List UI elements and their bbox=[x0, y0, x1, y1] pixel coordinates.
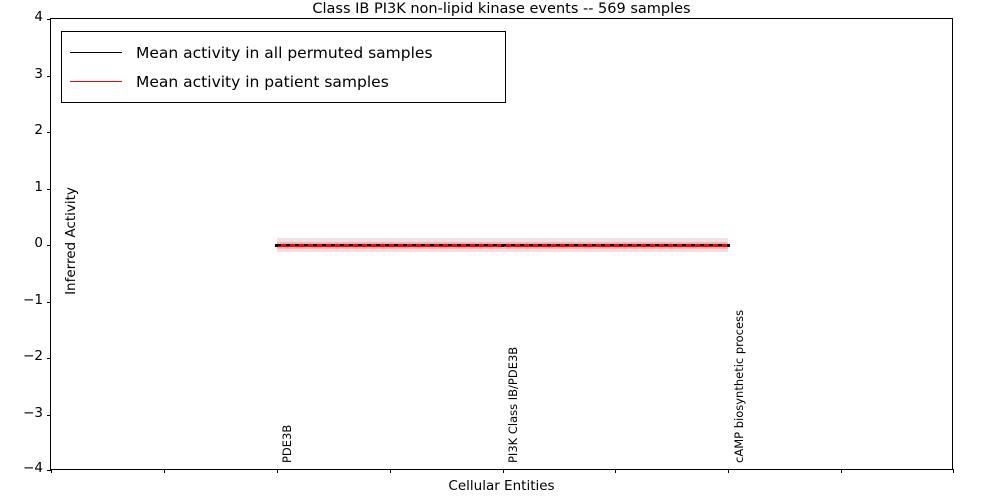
x-tick-mark bbox=[164, 469, 165, 473]
x-tick-mark bbox=[841, 469, 842, 473]
data-point-marker bbox=[727, 244, 730, 247]
x-tick-mark bbox=[51, 469, 52, 473]
x-tick-mark bbox=[277, 469, 278, 473]
plot-area: Mean activity in all permuted samples Me… bbox=[50, 18, 953, 470]
y-tick-label: 4 bbox=[3, 11, 43, 25]
x-tick-label-pi3k-class-ib-pde3b: PI3K Class IB/PDE3B bbox=[508, 347, 520, 463]
legend-item-patient: Mean activity in patient samples bbox=[70, 67, 493, 96]
figure-canvas: Class IB PI3K non-lipid kinase events --… bbox=[0, 0, 1000, 500]
page-title: Class IB PI3K non-lipid kinase events --… bbox=[50, 0, 953, 18]
y-tick-label: 3 bbox=[3, 68, 43, 82]
x-tick-mark bbox=[615, 469, 616, 473]
legend-label: Mean activity in all permuted samples bbox=[136, 44, 433, 62]
legend: Mean activity in all permuted samples Me… bbox=[61, 31, 506, 103]
data-point-marker bbox=[501, 244, 504, 247]
x-tick-mark bbox=[503, 469, 504, 473]
y-tick-label: −1 bbox=[3, 294, 43, 308]
x-axis-label: Cellular Entities bbox=[50, 478, 953, 494]
x-tick-label-camp-biosynthetic-process: cAMP biosynthetic process bbox=[734, 310, 746, 463]
x-tick-mark bbox=[953, 469, 954, 473]
y-tick-label: 0 bbox=[3, 237, 43, 251]
legend-item-permuted: Mean activity in all permuted samples bbox=[70, 38, 493, 67]
y-tick-label: 1 bbox=[3, 181, 43, 195]
x-tick-mark bbox=[728, 469, 729, 473]
x-tick-label-pde3b: PDE3B bbox=[282, 425, 294, 463]
y-tick-label: −4 bbox=[3, 462, 43, 476]
y-tick-label: −2 bbox=[3, 350, 43, 364]
y-axis-label: Inferred Activity bbox=[63, 15, 79, 467]
x-tick-mark bbox=[390, 469, 391, 473]
data-point-marker bbox=[275, 244, 278, 247]
y-tick-label: −3 bbox=[3, 407, 43, 421]
y-tick-label: 2 bbox=[3, 124, 43, 138]
legend-label: Mean activity in patient samples bbox=[136, 73, 389, 91]
